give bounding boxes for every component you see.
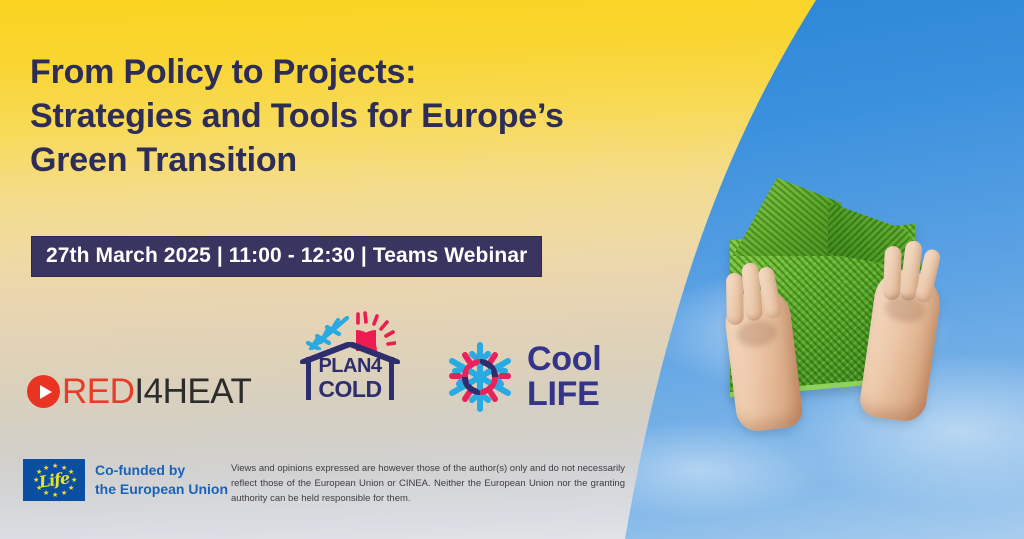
eu-funding-line1: Co-funded by bbox=[95, 461, 228, 480]
logo-plan4cold-text: PLAN4 COLD bbox=[306, 356, 394, 401]
logo-plan4cold[interactable]: PLAN4 COLD bbox=[300, 304, 400, 412]
title-line-1: From Policy to Projects: bbox=[30, 50, 710, 94]
eu-star: ★ bbox=[68, 469, 74, 476]
page-title: From Policy to Projects: Strategies and … bbox=[30, 50, 710, 183]
finger bbox=[726, 273, 744, 325]
eu-disclaimer-text: Views and opinions expressed are however… bbox=[231, 461, 625, 506]
logo-plan4cold-line2: COLD bbox=[311, 378, 389, 401]
eu-funding-text: Co-funded by the European Union bbox=[95, 461, 228, 498]
eu-funding-line2: the European Union bbox=[95, 480, 228, 499]
moss-house-roof-left bbox=[726, 176, 842, 256]
title-line-3: Green Transition bbox=[30, 138, 710, 182]
logo-coollife-line1: Cool bbox=[527, 342, 601, 377]
eu-flag-icon: ★ ★ ★ ★ ★ ★ ★ ★ ★ ★ ★ ★ Life bbox=[22, 458, 86, 502]
logo-coollife-line2: LIFE bbox=[527, 377, 601, 412]
eu-star: ★ bbox=[71, 477, 77, 484]
logo-redi4heat-heat: I4HEAT bbox=[134, 372, 251, 411]
moss-house-photo bbox=[700, 170, 960, 420]
logo-bar-right bbox=[389, 357, 394, 400]
partner-logos-row: REDI4HEAT bbox=[0, 300, 640, 430]
play-circle-icon bbox=[27, 375, 60, 408]
play-triangle-icon bbox=[40, 385, 52, 399]
snowflake-icon bbox=[443, 340, 517, 414]
logo-redi4heat[interactable]: REDI4HEAT bbox=[27, 374, 251, 409]
eu-funding-block: ★ ★ ★ ★ ★ ★ ★ ★ ★ ★ ★ ★ Life Co-funded b… bbox=[22, 458, 228, 502]
eu-star: ★ bbox=[61, 490, 67, 497]
logo-coollife-text: Cool LIFE bbox=[527, 342, 601, 411]
logo-redi4heat-red: RED bbox=[62, 372, 134, 411]
funding-footer: ★ ★ ★ ★ ★ ★ ★ ★ ★ ★ ★ ★ Life Co-funded b… bbox=[0, 452, 640, 518]
event-date-banner: 27th March 2025 | 11:00 - 12:30 | Teams … bbox=[31, 236, 542, 277]
logo-coollife[interactable]: Cool LIFE bbox=[443, 340, 601, 414]
logo-redi4heat-text: REDI4HEAT bbox=[62, 374, 251, 409]
logo-plan4cold-line1: PLAN4 bbox=[311, 356, 389, 376]
title-line-2: Strategies and Tools for Europe’s bbox=[30, 94, 710, 138]
webinar-promo-banner: From Policy to Projects: Strategies and … bbox=[0, 0, 1024, 539]
hand-shadow bbox=[735, 318, 778, 349]
life-programme-logo: Life bbox=[38, 468, 71, 492]
eu-star: ★ bbox=[52, 492, 58, 499]
